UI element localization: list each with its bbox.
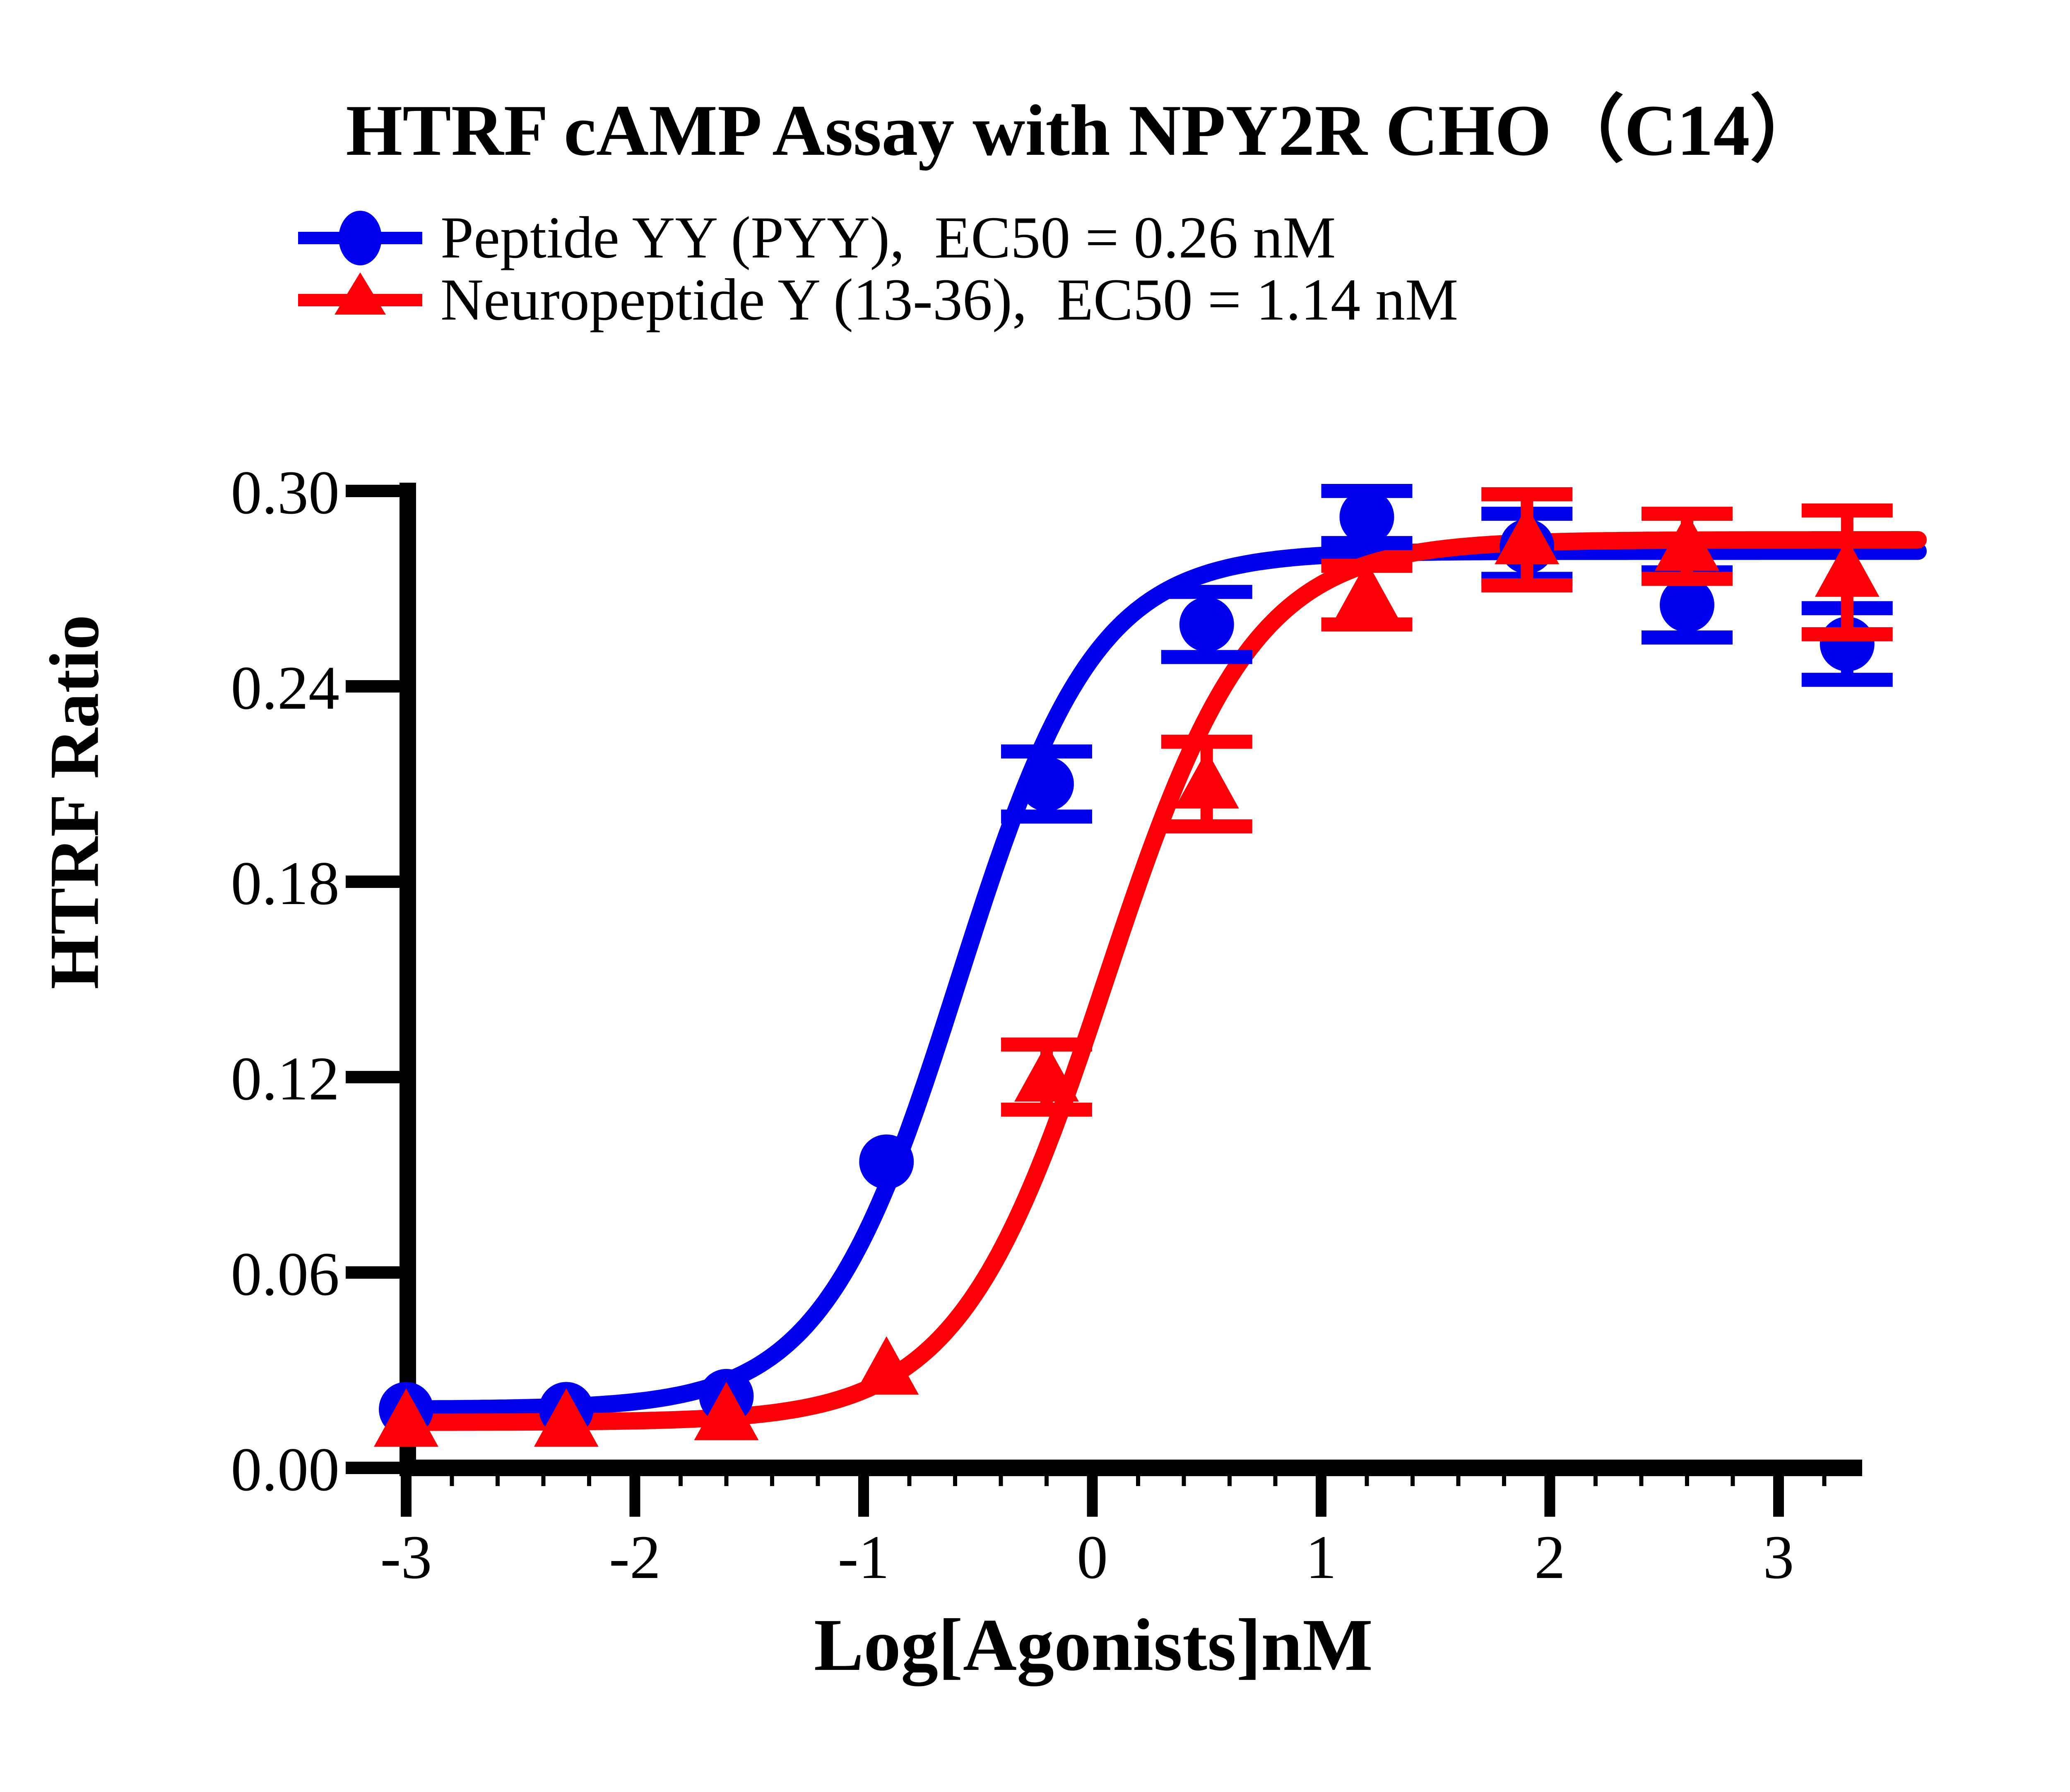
x-tick-label: 0 bbox=[1030, 1522, 1155, 1593]
chart-figure: HTRF cAMP Assay with NPY2R CHO（C14） Pept… bbox=[0, 0, 2070, 1790]
y-axis-label: HTRF Ratio bbox=[34, 512, 115, 1092]
fit-curve-pyy bbox=[395, 551, 1918, 1409]
data-point-pyy bbox=[1179, 597, 1234, 652]
x-tick-label: 1 bbox=[1259, 1522, 1383, 1593]
data-point-pyy bbox=[1340, 490, 1394, 544]
x-tick-label: 3 bbox=[1716, 1522, 1841, 1593]
data-point-pyy bbox=[1019, 757, 1074, 811]
y-tick-label: 0.24 bbox=[124, 652, 339, 724]
x-tick-label: -2 bbox=[573, 1522, 697, 1593]
y-tick-label: 0.18 bbox=[124, 848, 339, 919]
x-axis-label: Log[Agonists]nM bbox=[406, 1602, 1781, 1688]
y-tick-label: 0.12 bbox=[124, 1043, 339, 1114]
data-point-pyy bbox=[859, 1135, 914, 1189]
x-tick-label: -3 bbox=[344, 1522, 468, 1593]
y-tick-label: 0.06 bbox=[124, 1239, 339, 1310]
x-tick-label: 2 bbox=[1488, 1522, 1612, 1593]
fit-curve-npy bbox=[395, 540, 1918, 1422]
y-tick-label: 0.30 bbox=[124, 457, 339, 528]
y-tick-label: 0.00 bbox=[124, 1434, 339, 1505]
x-tick-label: -1 bbox=[802, 1522, 926, 1593]
